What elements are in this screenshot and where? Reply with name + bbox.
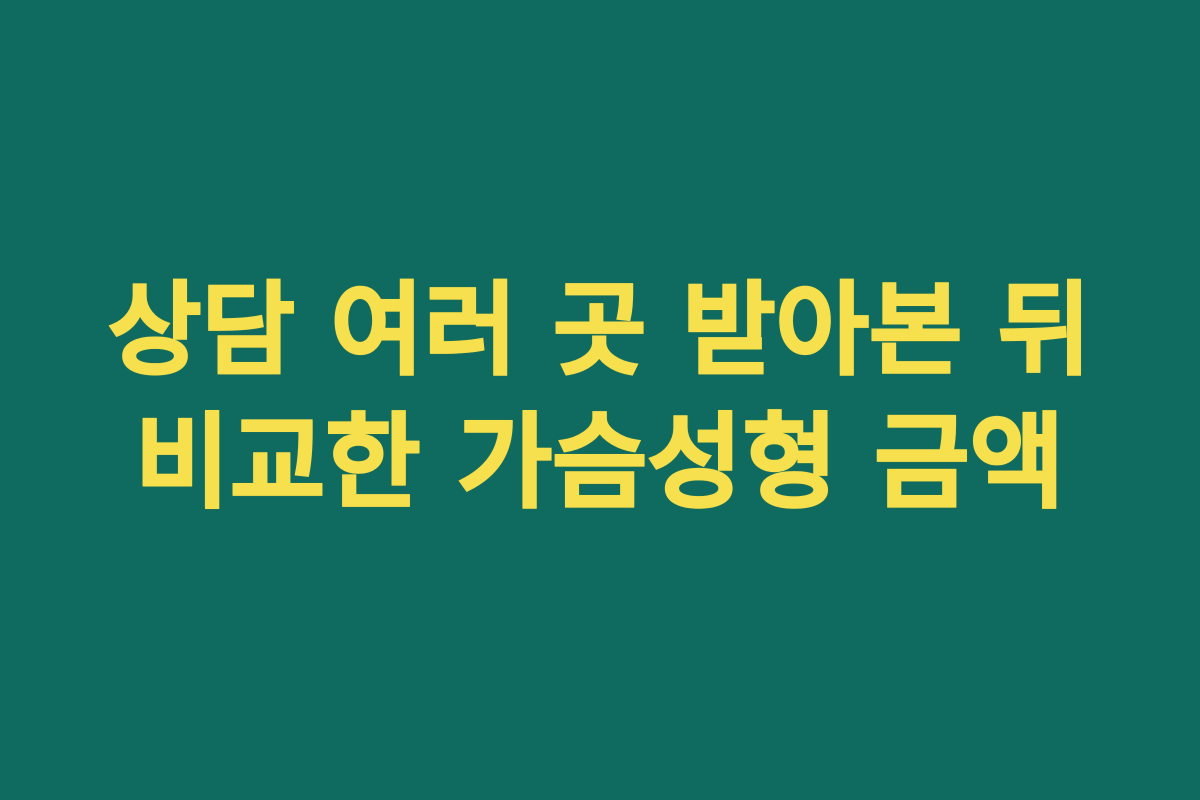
text-banner: 상담 여러 곳 받아본 뒤 비교한 가슴성형 금액 — [0, 0, 1200, 800]
headline-block: 상담 여러 곳 받아본 뒤 비교한 가슴성형 금액 — [0, 264, 1200, 530]
headline-line-1: 상담 여러 곳 받아본 뒤 — [40, 264, 1160, 397]
headline-line-2: 비교한 가슴성형 금액 — [40, 397, 1160, 530]
